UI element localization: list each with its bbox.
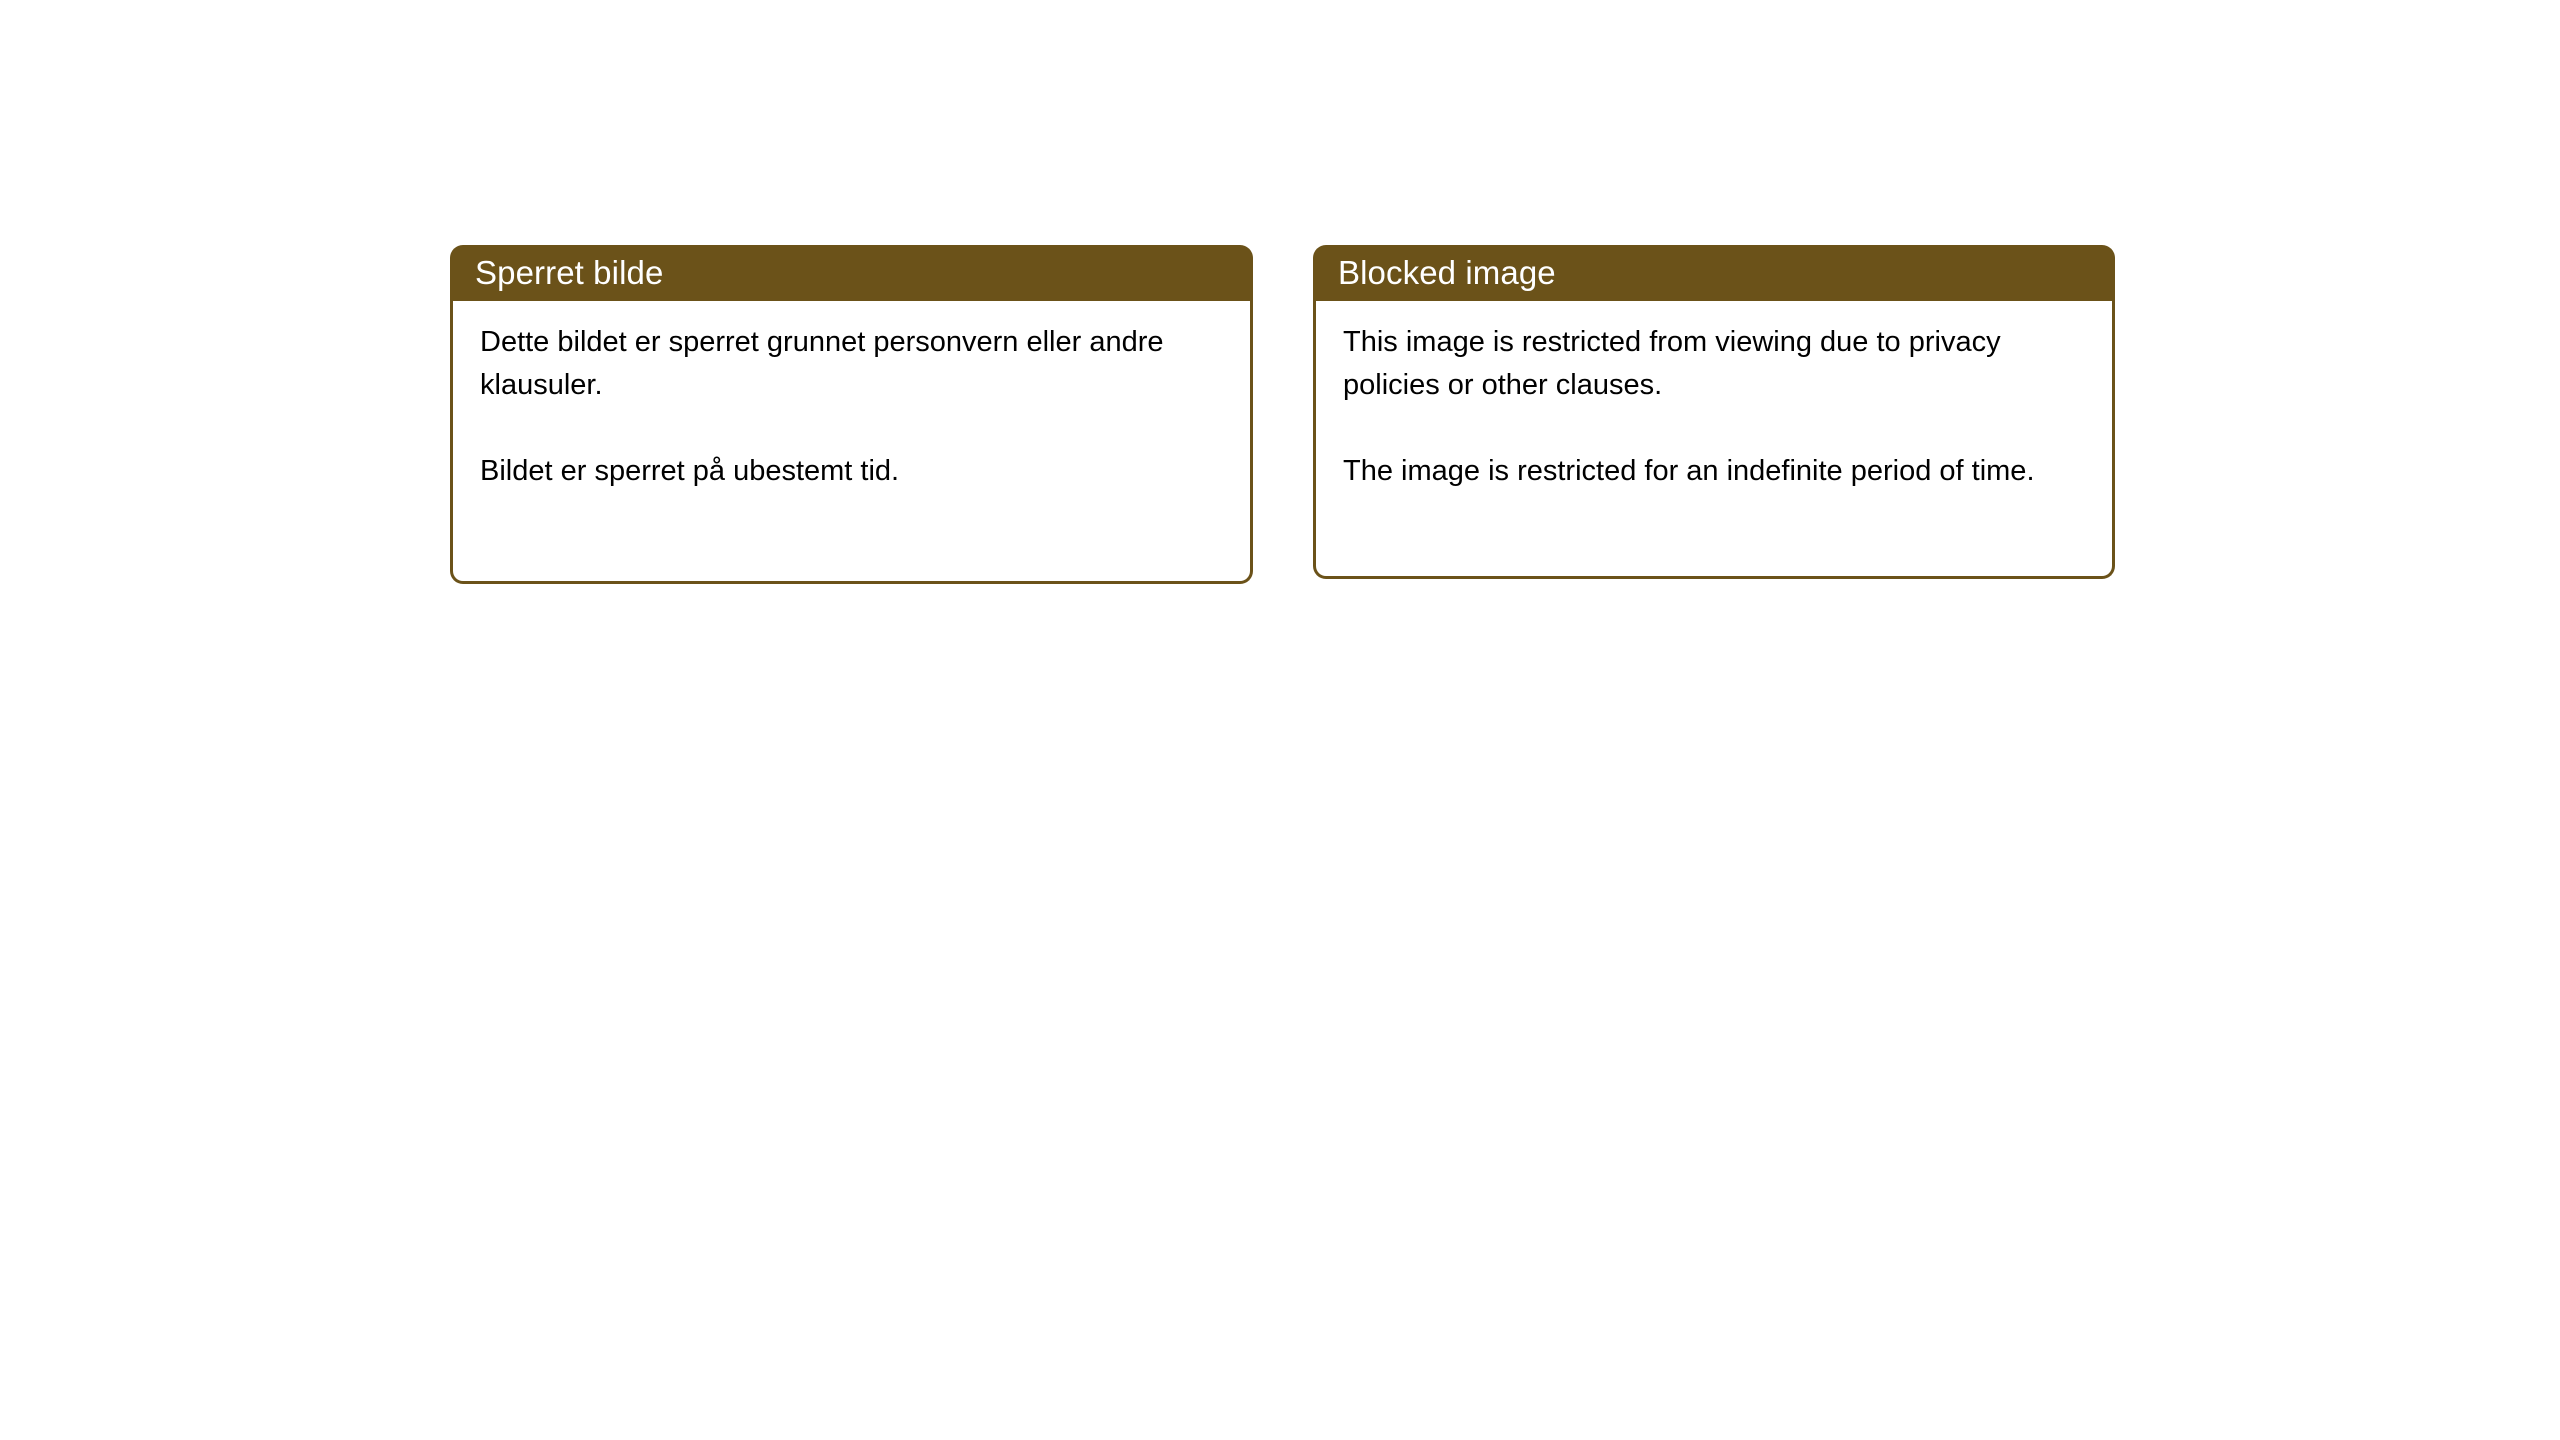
card-body-norwegian: Dette bildet er sperret grunnet personve…: [450, 301, 1253, 584]
card-paragraph-primary-english: This image is restricted from viewing du…: [1343, 321, 2090, 407]
paragraph-spacer: [480, 407, 1228, 450]
card-title-english: Blocked image: [1338, 254, 1556, 292]
card-header-norwegian: Sperret bilde: [450, 245, 1253, 301]
card-paragraph-primary-norwegian: Dette bildet er sperret grunnet personve…: [480, 321, 1228, 407]
card-body-english: This image is restricted from viewing du…: [1313, 301, 2115, 579]
blocked-image-notice-card-english: Blocked image This image is restricted f…: [1313, 245, 2115, 579]
blocked-image-notice-card-norwegian: Sperret bilde Dette bildet er sperret gr…: [450, 245, 1253, 584]
paragraph-spacer: [1343, 407, 2090, 450]
card-paragraph-secondary-norwegian: Bildet er sperret på ubestemt tid.: [480, 450, 1228, 493]
page-canvas: Sperret bilde Dette bildet er sperret gr…: [0, 0, 2560, 1440]
card-title-norwegian: Sperret bilde: [475, 254, 663, 292]
card-header-english: Blocked image: [1313, 245, 2115, 301]
card-paragraph-secondary-english: The image is restricted for an indefinit…: [1343, 450, 2090, 493]
